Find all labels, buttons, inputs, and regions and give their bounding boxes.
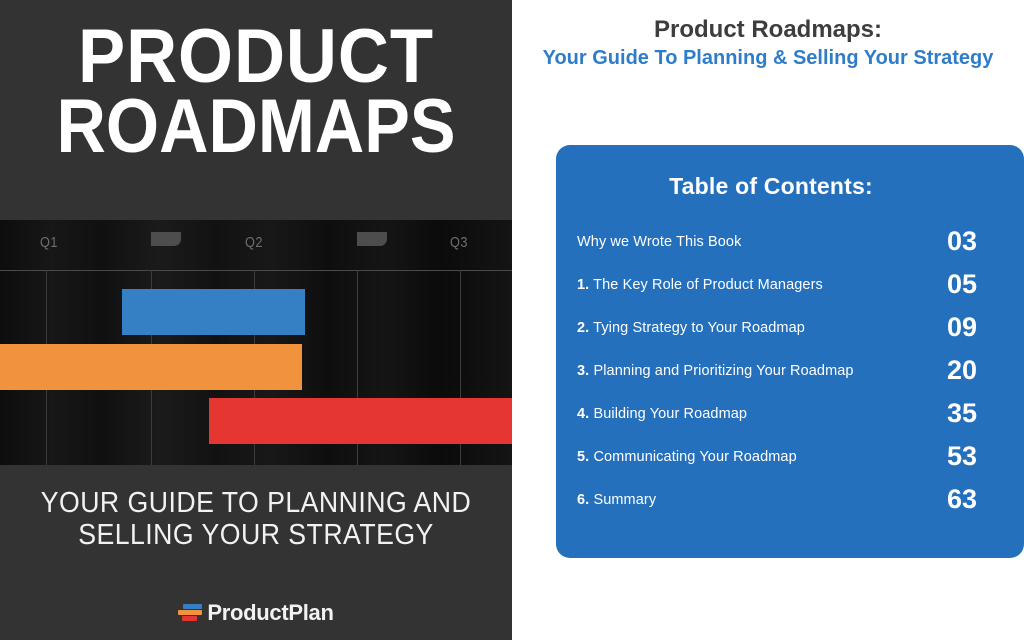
toc-entry-page-number: 20 bbox=[913, 355, 977, 386]
milestone-flag-icon bbox=[357, 232, 387, 246]
toc-entry[interactable]: Why we Wrote This Book03 bbox=[577, 220, 977, 263]
cover-subtitle-line-1: YOUR GUIDE TO PLANNING AND bbox=[20, 487, 491, 519]
gantt-bar-blue bbox=[122, 289, 305, 335]
toc-page: Product Roadmaps: Your Guide To Planning… bbox=[512, 0, 1024, 640]
toc-entry[interactable]: 5. Communicating Your Roadmap53 bbox=[577, 435, 977, 478]
cover-title: PRODUCT ROADMAPS bbox=[0, 22, 512, 162]
toc-entry-title: The Key Role of Product Managers bbox=[593, 277, 823, 293]
book-cover: PRODUCT ROADMAPS Q1 Q2 Q3 YOUR GUIDE TO … bbox=[0, 0, 512, 640]
toc-entry-title: Planning and Prioritizing Your Roadmap bbox=[593, 363, 853, 379]
toc-entry-title: Tying Strategy to Your Roadmap bbox=[593, 320, 805, 336]
gantt-quarter-label-q1: Q1 bbox=[40, 234, 58, 251]
toc-entry[interactable]: 1. The Key Role of Product Managers05 bbox=[577, 263, 977, 306]
toc-entry[interactable]: 6. Summary63 bbox=[577, 478, 977, 521]
toc-entry-title: Building Your Roadmap bbox=[593, 406, 747, 422]
gantt-chart-graphic: Q1 Q2 Q3 bbox=[0, 220, 512, 465]
productplan-logo-text: ProductPlan bbox=[207, 600, 333, 626]
toc-entry-number: 4. bbox=[577, 406, 589, 422]
toc-entry-label: 4. Building Your Roadmap bbox=[577, 406, 913, 422]
milestone-flag-icon bbox=[151, 232, 181, 246]
toc-entry-number: 6. bbox=[577, 492, 589, 508]
gantt-header-divider bbox=[0, 270, 512, 271]
toc-entry-label: Why we Wrote This Book bbox=[577, 234, 913, 250]
gantt-bar-orange bbox=[0, 344, 302, 390]
cover-title-line-2: ROADMAPS bbox=[26, 92, 487, 162]
toc-entry-title: Summary bbox=[593, 492, 656, 508]
productplan-bars-icon bbox=[178, 603, 202, 623]
toc-entry[interactable]: 2. Tying Strategy to Your Roadmap09 bbox=[577, 306, 977, 349]
cover-subtitle: YOUR GUIDE TO PLANNING AND SELLING YOUR … bbox=[20, 487, 491, 552]
toc-entry-title: Why we Wrote This Book bbox=[577, 234, 741, 250]
toc-entry-number: 5. bbox=[577, 449, 589, 465]
table-of-contents-panel: Table of Contents: Why we Wrote This Boo… bbox=[556, 145, 1024, 558]
toc-entry[interactable]: 3. Planning and Prioritizing Your Roadma… bbox=[577, 349, 977, 392]
ebook-preview-page: PRODUCT ROADMAPS Q1 Q2 Q3 YOUR GUIDE TO … bbox=[0, 0, 1024, 640]
page-title: Product Roadmaps: bbox=[512, 16, 1024, 44]
gantt-quarter-label-q3: Q3 bbox=[450, 234, 468, 251]
cover-title-line-1: PRODUCT bbox=[18, 22, 494, 92]
toc-entry-page-number: 63 bbox=[913, 484, 977, 515]
toc-entry-number: 1. bbox=[577, 277, 589, 293]
productplan-logo: ProductPlan bbox=[0, 600, 512, 626]
toc-entry-label: 5. Communicating Your Roadmap bbox=[577, 449, 913, 465]
toc-entry-page-number: 05 bbox=[913, 269, 977, 300]
toc-entry-label: 6. Summary bbox=[577, 492, 913, 508]
toc-entry-label: 2. Tying Strategy to Your Roadmap bbox=[577, 320, 913, 336]
toc-heading: Table of Contents: bbox=[556, 173, 986, 200]
toc-entry-label: 3. Planning and Prioritizing Your Roadma… bbox=[577, 363, 913, 379]
page-subtitle: Your Guide To Planning & Selling Your St… bbox=[512, 47, 1024, 70]
toc-list: Why we Wrote This Book031. The Key Role … bbox=[577, 220, 977, 521]
toc-entry-page-number: 53 bbox=[913, 441, 977, 472]
gantt-quarter-label-q2: Q2 bbox=[245, 234, 263, 251]
cover-subtitle-line-2: SELLING YOUR STRATEGY bbox=[20, 519, 491, 551]
toc-entry-page-number: 03 bbox=[913, 226, 977, 257]
toc-entry-page-number: 09 bbox=[913, 312, 977, 343]
toc-entry-number: 3. bbox=[577, 363, 589, 379]
gantt-timeline-header: Q1 Q2 Q3 bbox=[0, 220, 512, 270]
toc-entry[interactable]: 4. Building Your Roadmap35 bbox=[577, 392, 977, 435]
toc-entry-title: Communicating Your Roadmap bbox=[593, 449, 796, 465]
gantt-bar-red bbox=[209, 398, 512, 444]
toc-entry-page-number: 35 bbox=[913, 398, 977, 429]
toc-entry-number: 2. bbox=[577, 320, 589, 336]
toc-entry-label: 1. The Key Role of Product Managers bbox=[577, 277, 913, 293]
